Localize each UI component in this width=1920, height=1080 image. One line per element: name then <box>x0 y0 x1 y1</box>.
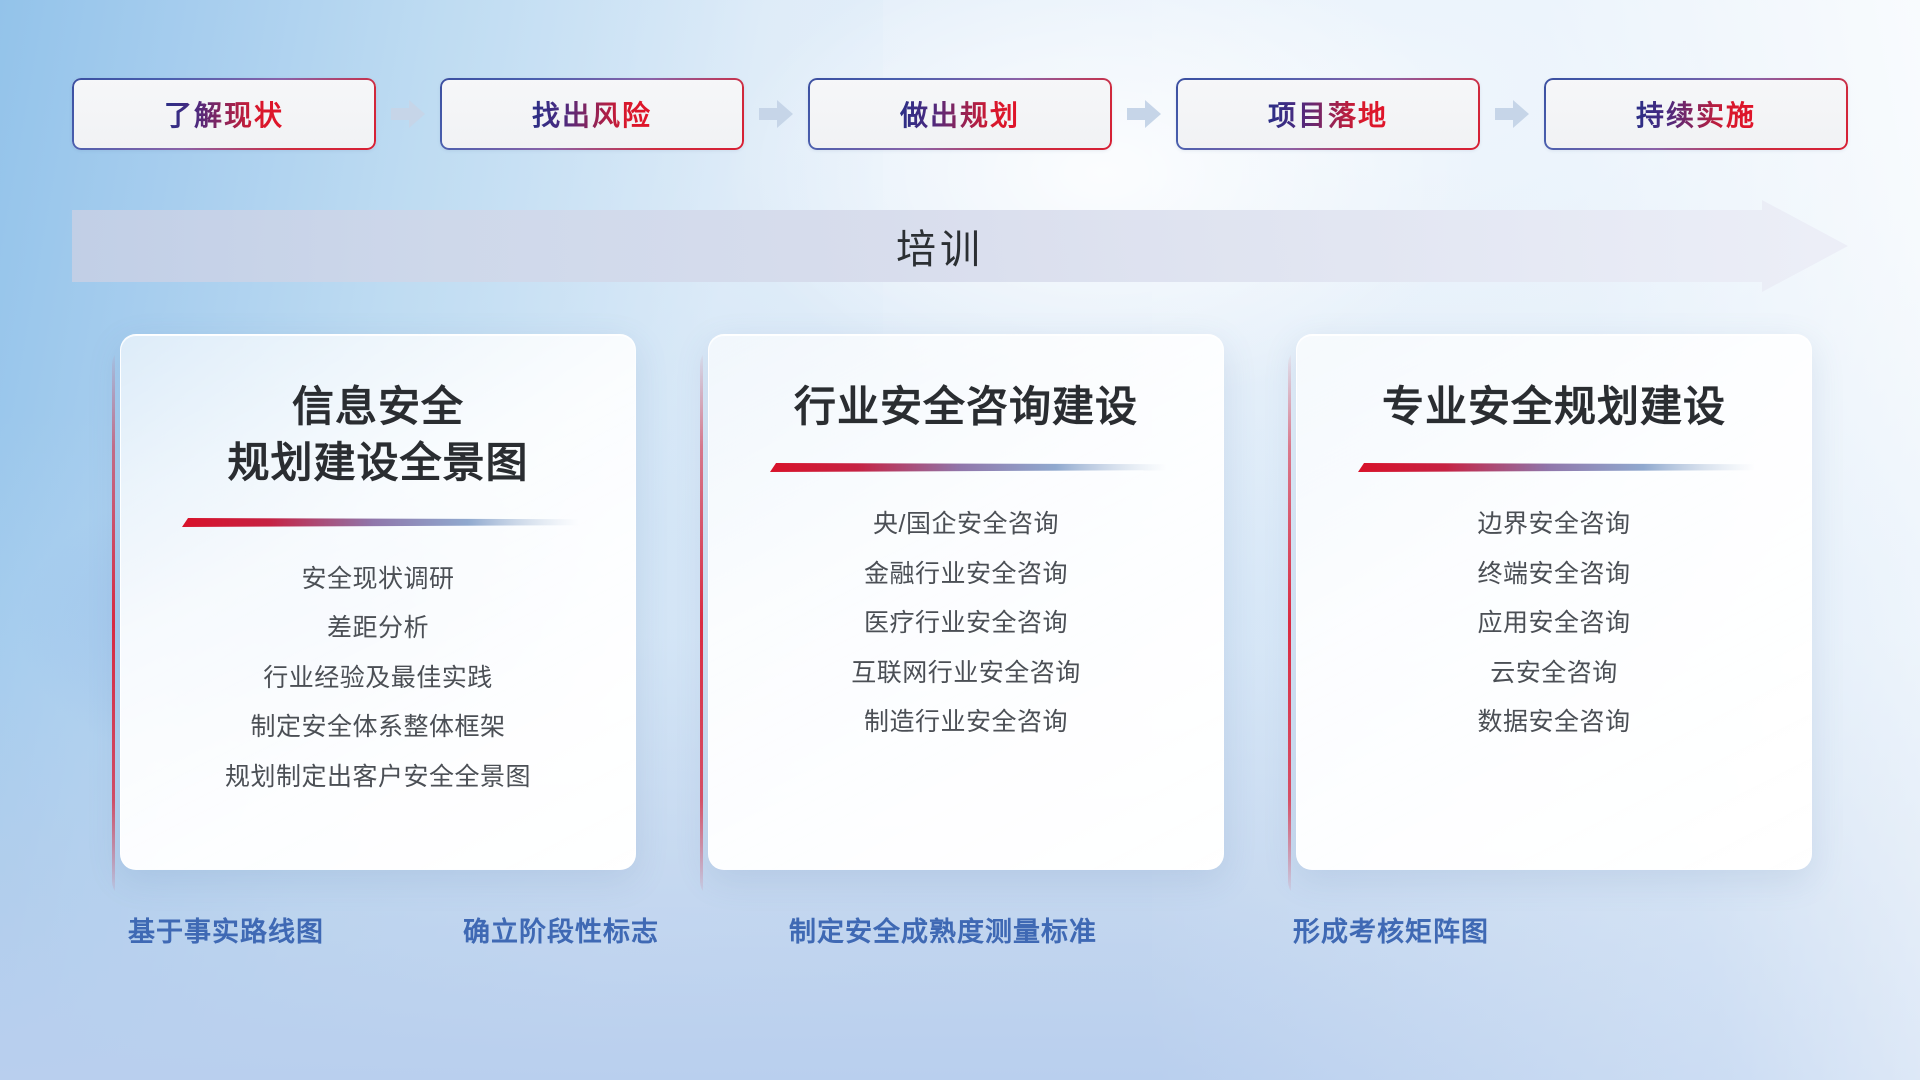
card-3[interactable]: 专业安全规划建设边界安全咨询终端安全咨询应用安全咨询云安全咨询数据安全咨询 <box>1288 334 1812 884</box>
arrow-right-icon <box>1480 94 1544 134</box>
card-panel: 行业安全咨询建设央/国企安全咨询金融行业安全咨询医疗行业安全咨询互联网行业安全咨… <box>708 334 1224 870</box>
card-divider <box>178 518 579 527</box>
training-banner: 培训 <box>72 200 1848 292</box>
card-title: 行业安全咨询建设 <box>794 379 1138 437</box>
card-2[interactable]: 行业安全咨询建设央/国企安全咨询金融行业安全咨询医疗行业安全咨询互联网行业安全咨… <box>700 334 1224 884</box>
card-list-item: 制造行业安全咨询 <box>709 698 1223 748</box>
card-item-list: 安全现状调研差距分析行业经验及最佳实践制定安全体系整体框架规划制定出客户安全全景… <box>121 555 635 803</box>
card-list-item: 云安全咨询 <box>1297 649 1811 699</box>
card-list-item: 数据安全咨询 <box>1297 698 1811 748</box>
card-list-item: 互联网行业安全咨询 <box>709 649 1223 699</box>
card-row: 信息安全 规划建设全景图安全现状调研差距分析行业经验及最佳实践制定安全体系整体框… <box>112 334 1812 884</box>
process-step-3[interactable]: 做出规划 <box>808 78 1112 150</box>
card-panel: 信息安全 规划建设全景图安全现状调研差距分析行业经验及最佳实践制定安全体系整体框… <box>120 334 636 870</box>
card-list-item: 应用安全咨询 <box>1297 599 1811 649</box>
card-divider <box>1354 463 1755 472</box>
card-list-item: 医疗行业安全咨询 <box>709 599 1223 649</box>
card-title: 专业安全规划建设 <box>1382 379 1726 437</box>
card-title: 信息安全 规划建设全景图 <box>227 379 528 492</box>
arrow-right-icon <box>376 94 440 134</box>
footer-label-3: 制定安全成熟度测量标准 <box>789 910 1097 949</box>
card-list-item: 央/国企安全咨询 <box>709 500 1223 550</box>
card-panel: 专业安全规划建设边界安全咨询终端安全咨询应用安全咨询云安全咨询数据安全咨询 <box>1296 334 1812 870</box>
banner-title: 培训 <box>72 200 1848 292</box>
footer-label-4: 形成考核矩阵图 <box>1293 910 1489 949</box>
arrow-right-icon <box>744 94 808 134</box>
process-step-row: 了解现状找出风险做出规划项目落地持续实施 <box>72 78 1848 150</box>
process-step-label: 找出风险 <box>532 94 652 134</box>
card-list-item: 规划制定出客户安全全景图 <box>121 753 635 803</box>
process-step-label: 做出规划 <box>900 94 1020 134</box>
card-list-item: 金融行业安全咨询 <box>709 550 1223 600</box>
footer-label-2: 确立阶段性标志 <box>463 910 659 949</box>
card-divider <box>766 463 1167 472</box>
process-step-2[interactable]: 找出风险 <box>440 78 744 150</box>
card-1[interactable]: 信息安全 规划建设全景图安全现状调研差距分析行业经验及最佳实践制定安全体系整体框… <box>112 334 636 884</box>
footer-label-1: 基于事实路线图 <box>128 910 324 949</box>
card-item-list: 央/国企安全咨询金融行业安全咨询医疗行业安全咨询互联网行业安全咨询制造行业安全咨… <box>709 500 1223 748</box>
footer-label-row: 基于事实路线图确立阶段性标志制定安全成熟度测量标准形成考核矩阵图 <box>0 910 1920 960</box>
card-item-list: 边界安全咨询终端安全咨询应用安全咨询云安全咨询数据安全咨询 <box>1297 500 1811 748</box>
process-step-4[interactable]: 项目落地 <box>1176 78 1480 150</box>
arrow-right-icon <box>1112 94 1176 134</box>
card-list-item: 制定安全体系整体框架 <box>121 703 635 753</box>
slide-stage: 了解现状找出风险做出规划项目落地持续实施 培训 信息安全 规划建设全景图安全现状… <box>0 0 1920 1080</box>
process-step-label: 了解现状 <box>164 94 284 134</box>
process-step-1[interactable]: 了解现状 <box>72 78 376 150</box>
process-step-5[interactable]: 持续实施 <box>1544 78 1848 150</box>
card-list-item: 终端安全咨询 <box>1297 550 1811 600</box>
process-step-label: 持续实施 <box>1636 94 1756 134</box>
card-list-item: 安全现状调研 <box>121 555 635 605</box>
card-list-item: 行业经验及最佳实践 <box>121 654 635 704</box>
card-list-item: 差距分析 <box>121 604 635 654</box>
card-list-item: 边界安全咨询 <box>1297 500 1811 550</box>
process-step-label: 项目落地 <box>1268 94 1388 134</box>
